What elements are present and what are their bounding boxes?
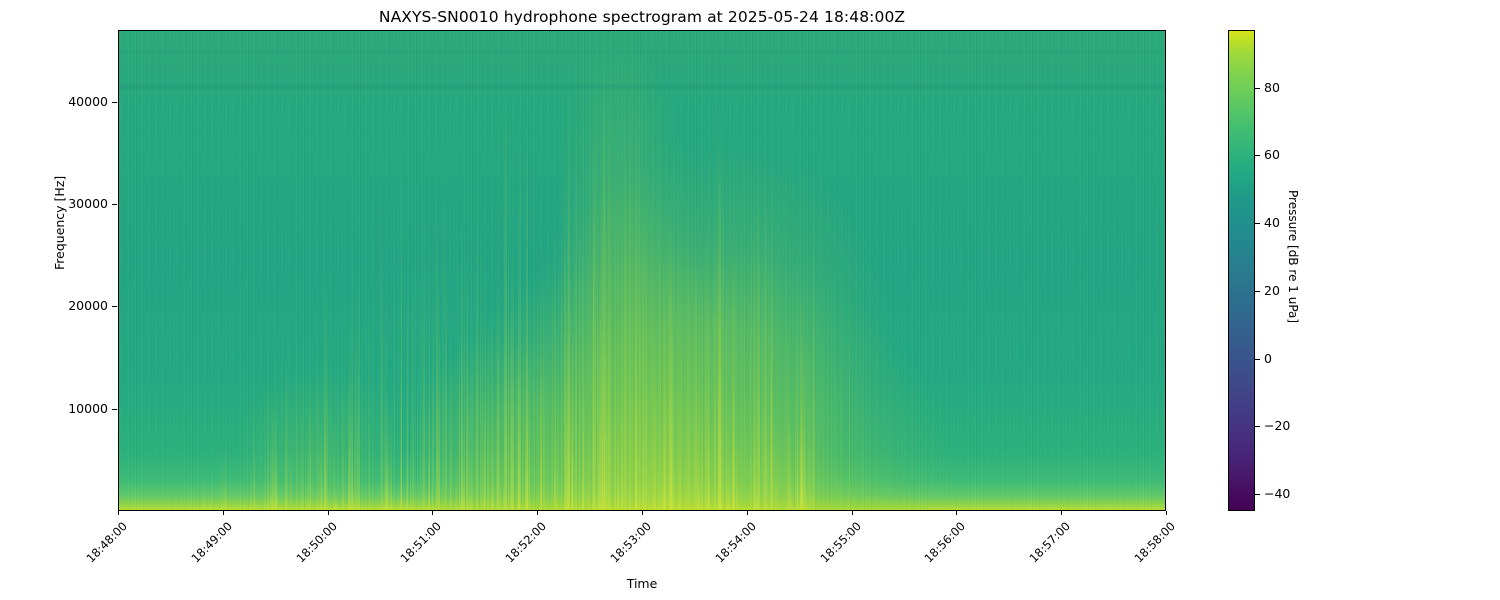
- spectrogram-transient: [721, 189, 722, 510]
- spectrogram-transient: [212, 463, 213, 510]
- spectrogram-transient: [663, 293, 666, 511]
- spectrogram-transient: [648, 455, 649, 510]
- spectrogram-transient: [428, 394, 430, 510]
- spectrogram-transient: [722, 417, 724, 510]
- spectrogram-transient: [240, 472, 241, 510]
- spectrogram-transient: [805, 474, 808, 510]
- spectrogram-transient: [714, 230, 716, 510]
- spectrogram-transient: [698, 466, 700, 510]
- spectrogram-transient: [319, 422, 320, 510]
- spectrogram-transient: [335, 490, 337, 510]
- colorbar-tick-label: 40: [1264, 215, 1280, 230]
- x-axis-tick: [852, 511, 853, 515]
- spectrogram-transient: [543, 271, 545, 511]
- spectrogram-transient: [342, 379, 344, 510]
- spectrogram-transient: [487, 319, 489, 510]
- colorbar-tick: [1255, 223, 1260, 224]
- spectrogram-transient: [808, 268, 810, 510]
- page-title: NAXYS-SN0010 hydrophone spectrogram at 2…: [118, 8, 1166, 26]
- spectrogram-transient: [238, 461, 239, 510]
- spectrogram-transient: [518, 439, 520, 510]
- spectrogram-transient: [575, 95, 577, 510]
- spectrogram-transient: [818, 177, 819, 510]
- spectrogram-transient: [412, 253, 414, 510]
- spectrogram-transient: [767, 394, 768, 510]
- spectrogram-transient: [504, 87, 507, 510]
- spectrogram-transient: [622, 436, 624, 510]
- colorbar-tick-label: −40: [1264, 486, 1290, 501]
- colorbar-tick: [1255, 291, 1260, 292]
- spectrogram-transient: [756, 172, 757, 510]
- x-axis-tick-label: 18:58:00: [1124, 519, 1178, 573]
- x-axis-tick: [328, 511, 329, 515]
- spectrogram-transient: [759, 331, 760, 510]
- x-axis-tick-label: 18:52:00: [495, 519, 549, 573]
- spectrogram-transient: [679, 383, 681, 510]
- spectrogram-transient: [317, 335, 319, 510]
- spectrogram-transient: [385, 435, 388, 510]
- colorbar-tick: [1255, 155, 1260, 156]
- spectrogram-transient: [522, 279, 523, 510]
- spectrogram-transient: [290, 417, 292, 510]
- x-axis-tick: [747, 511, 748, 515]
- spectrogram-transient: [469, 376, 471, 510]
- spectrogram-transient: [588, 416, 590, 510]
- y-axis-title: Frequency [Hz]: [52, 176, 67, 270]
- colorbar-tick-label: −20: [1264, 418, 1290, 433]
- spectrogram-transient: [230, 441, 231, 510]
- spectrogram-transient: [381, 201, 383, 511]
- spectrogram-transient: [795, 356, 796, 510]
- spectrogram-transient: [209, 493, 212, 510]
- spectrogram-transient: [234, 460, 235, 510]
- spectrogram-transient: [566, 306, 568, 510]
- spectrogram-transient: [582, 293, 583, 510]
- x-axis-tick: [223, 511, 224, 515]
- spectrogram-transient: [568, 367, 570, 510]
- spectrogram-transient: [351, 406, 353, 510]
- spectrogram-transient: [728, 243, 729, 510]
- spectrogram-transient: [812, 198, 815, 510]
- y-axis-tick-label: 40000: [68, 94, 108, 109]
- spectrogram-transient: [442, 197, 445, 510]
- spectrogram-transient: [390, 401, 392, 510]
- spectrogram-transient: [800, 426, 802, 510]
- spectrogram-transient: [798, 443, 800, 510]
- spectrogram-transient: [508, 105, 509, 510]
- colorbar: [1228, 30, 1255, 511]
- spectrogram-transient: [410, 411, 411, 510]
- x-axis-title: Time: [118, 576, 1166, 591]
- spectrogram-transient: [267, 352, 269, 510]
- colorbar-tick: [1255, 426, 1260, 427]
- spectrogram-transient: [782, 201, 783, 510]
- colorbar-tick: [1255, 88, 1260, 89]
- spectrogram-transient: [301, 400, 303, 510]
- spectrogram-transient: [706, 227, 708, 510]
- spectrogram-transient: [296, 324, 298, 510]
- x-axis-tick-label: 18:56:00: [915, 519, 969, 573]
- x-axis-tick-label: 18:50:00: [286, 519, 340, 573]
- spectrogram-transient: [790, 473, 793, 511]
- colorbar-title: Pressure [dB re 1 uPa]: [1286, 190, 1300, 323]
- spectrogram-transient: [220, 432, 223, 510]
- spectrogram-transient: [805, 255, 806, 510]
- colorbar-tick-label: 80: [1264, 80, 1280, 95]
- spectrogram-transient: [480, 203, 483, 510]
- spectrogram-transient: [462, 425, 465, 510]
- y-axis-tick-label: 10000: [68, 401, 108, 416]
- spectrogram-transient: [369, 274, 370, 510]
- spectrogram-transient: [422, 304, 424, 510]
- spectrogram-transient: [750, 450, 751, 510]
- spectrogram-transient: [321, 445, 323, 510]
- x-axis-tick: [956, 511, 957, 515]
- spectrogram-transient: [647, 64, 648, 510]
- spectrogram-transient: [466, 223, 468, 510]
- spectrogram-transient: [484, 397, 486, 510]
- spectrogram-transient: [765, 283, 767, 510]
- spectrogram-transient: [417, 145, 418, 510]
- y-axis-tick: [112, 102, 117, 103]
- spectrogram-transient: [438, 280, 440, 510]
- x-axis-tick-label: 18:48:00: [76, 519, 130, 573]
- x-axis-tick: [1061, 511, 1062, 515]
- spectrogram-transient: [658, 86, 659, 510]
- spectrogram-transient: [264, 390, 266, 510]
- x-axis-tick: [118, 511, 119, 515]
- spectrogram-image: [119, 31, 1165, 510]
- x-axis-tick: [642, 511, 643, 515]
- spectrogram-transient: [401, 155, 402, 510]
- spectrogram-transient: [708, 290, 710, 510]
- spectrogram-transient: [685, 356, 686, 510]
- spectrogram-transient: [779, 382, 781, 510]
- spectrogram-transient: [787, 305, 789, 510]
- spectrogram-transient: [673, 448, 675, 510]
- x-axis-tick-label: 18:57:00: [1019, 519, 1073, 573]
- spectrogram-transient: [579, 175, 580, 510]
- spectrogram-transient: [639, 69, 641, 510]
- x-axis-tick-label: 18:53:00: [600, 519, 654, 573]
- spectrogram-transient: [642, 434, 645, 510]
- spectrogram-transient: [491, 475, 494, 510]
- spectrogram-transient: [775, 433, 777, 511]
- x-axis-tick-label: 18:51:00: [391, 519, 445, 573]
- spectrogram-transient: [753, 187, 756, 510]
- spectrogram-transient: [770, 184, 772, 510]
- spectrogram-transient: [401, 463, 404, 510]
- spectrogram-transient: [436, 192, 438, 510]
- spectrogram-transient: [701, 366, 703, 510]
- x-axis-tick-label: 18:54:00: [705, 519, 759, 573]
- spectrogram-transient: [614, 337, 616, 510]
- x-axis-tick: [1166, 511, 1167, 515]
- spectrogram-transient: [450, 368, 452, 510]
- spectrogram-transient: [618, 362, 620, 510]
- y-axis-tick-label: 30000: [68, 196, 108, 211]
- spectrogram-transient: [624, 100, 627, 510]
- spectrogram-figure: NAXYS-SN0010 hydrophone spectrogram at 2…: [0, 0, 1500, 600]
- spectrogram-transient: [476, 182, 478, 510]
- spectrogram-transient: [528, 349, 530, 510]
- colorbar-tick-label: 20: [1264, 283, 1280, 298]
- spectrogram-transient: [459, 340, 460, 510]
- x-axis-tick: [537, 511, 538, 515]
- colorbar-tick: [1255, 494, 1260, 495]
- spectrogram-transient: [557, 294, 558, 510]
- spectrogram-transient: [253, 372, 255, 510]
- colorbar-tick-label: 60: [1264, 147, 1280, 162]
- spectrogram-transient: [203, 482, 206, 510]
- spectrogram-transient: [586, 323, 587, 510]
- spectrogram-transient: [471, 450, 473, 510]
- spectrogram-transient: [500, 448, 501, 510]
- colorbar-tick: [1255, 359, 1260, 360]
- spectrogram-transient: [354, 315, 357, 510]
- spectrogram-transient: [225, 450, 226, 510]
- spectrogram-transient: [270, 468, 273, 510]
- spectrogram-axes: [118, 30, 1166, 511]
- spectrogram-transient: [510, 302, 513, 510]
- spectrogram-transient: [497, 295, 500, 510]
- spectrogram-transient: [275, 415, 277, 510]
- y-axis-tick: [112, 204, 117, 205]
- spectrogram-transient: [554, 202, 556, 510]
- spectrogram-transient: [243, 498, 246, 511]
- spectrogram-transient: [445, 138, 446, 510]
- spectrogram-transient: [287, 305, 288, 510]
- spectrogram-transient: [540, 268, 542, 510]
- spectrogram-transient: [455, 458, 458, 510]
- spectrogram-transient: [655, 354, 656, 510]
- spectrogram-transient: [629, 57, 631, 510]
- spectrogram-transient: [525, 412, 528, 510]
- spectrogram-transient: [635, 58, 637, 510]
- spectrogram-transient: [571, 370, 574, 510]
- spectrogram-transient: [786, 485, 789, 510]
- y-axis-tick-label: 20000: [68, 298, 108, 313]
- spectrogram-transient: [407, 281, 408, 510]
- spectrogram-transient-layer: [119, 31, 1165, 510]
- spectrogram-transient: [732, 243, 735, 510]
- spectrogram-transient: [604, 53, 606, 510]
- spectrogram-transient: [736, 435, 739, 510]
- x-axis-tick-label: 18:49:00: [181, 519, 235, 573]
- spectrogram-transient: [432, 265, 433, 510]
- spectrogram-transient: [610, 279, 612, 511]
- spectrogram-transient: [670, 252, 672, 511]
- colorbar-tick-label: 0: [1264, 351, 1272, 366]
- spectrogram-transient: [325, 270, 328, 510]
- y-axis-tick: [112, 409, 117, 410]
- spectrogram-transient: [688, 223, 690, 510]
- spectrogram-transient: [606, 283, 608, 510]
- x-axis-tick-label: 18:55:00: [810, 519, 864, 573]
- y-axis-tick: [112, 306, 117, 307]
- x-axis-tick: [432, 511, 433, 515]
